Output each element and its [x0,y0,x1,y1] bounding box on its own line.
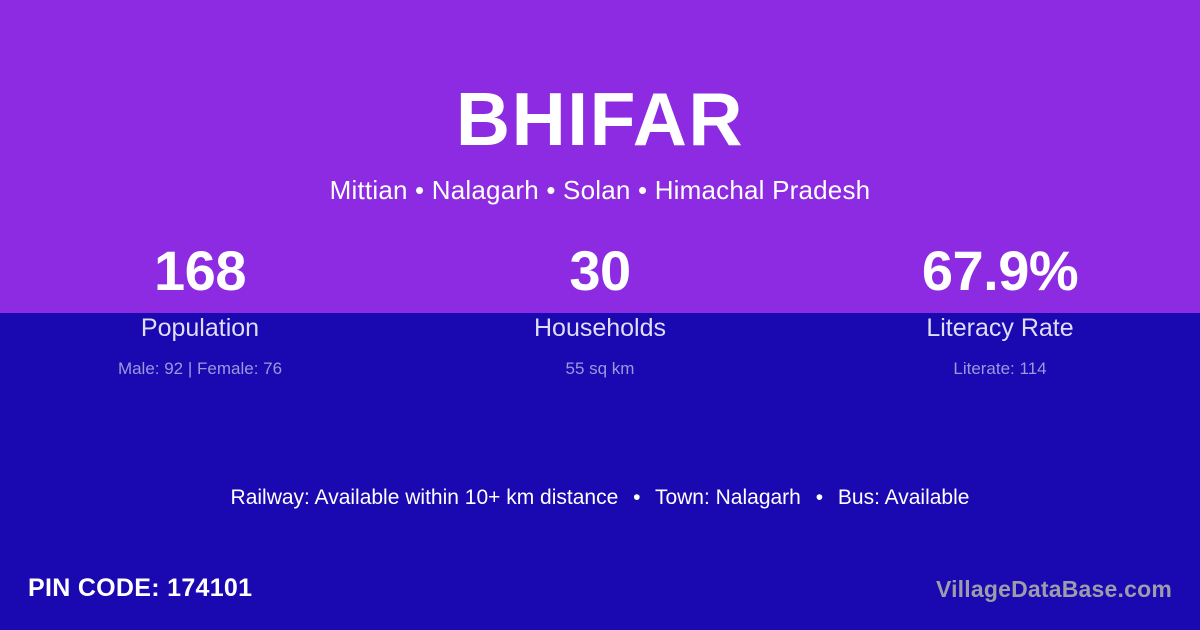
facility-bus: Bus: Available [838,486,970,509]
stat-sub-population: Male: 92 | Female: 76 [0,341,400,377]
stat-sub-households: 55 sq km [400,341,800,377]
stat-literacy-rate: 67.9% Literacy Rate Literate: 114 [800,243,1200,377]
facility-railway: Railway: Available within 10+ km distanc… [231,486,619,509]
stat-households: 30 Households 55 sq km [400,243,800,377]
card-footer: PIN CODE: 174101 VillageDataBase.com [0,575,1200,615]
stats-row: 168 Population Male: 92 | Female: 76 30 … [0,243,1200,377]
facility-separator-2: • [807,486,832,509]
facility-info-line: Railway: Available within 10+ km distanc… [0,487,1200,508]
card-header: BHIFAR Mittian • Nalagarh • Solan • Hima… [0,0,1200,206]
village-info-card: BHIFAR Mittian • Nalagarh • Solan • Hima… [0,0,1200,630]
stat-label-population: Population [0,313,400,341]
stat-label-households: Households [400,313,800,341]
pin-code-label: PIN CODE: 174101 [28,575,252,603]
stat-population: 168 Population Male: 92 | Female: 76 [0,243,400,377]
facility-separator-1: • [624,486,649,509]
stat-value-population: 168 [0,243,400,313]
stat-value-households: 30 [400,243,800,313]
stat-sub-literacy-rate: Literate: 114 [800,341,1200,377]
breadcrumb: Mittian • Nalagarh • Solan • Himachal Pr… [0,157,1200,206]
page-title: BHIFAR [0,0,1200,157]
site-brand-label: VillageDataBase.com [936,577,1172,602]
stat-label-literacy-rate: Literacy Rate [800,313,1200,341]
facility-town: Town: Nalagarh [655,486,801,509]
stat-value-literacy-rate: 67.9% [800,243,1200,313]
